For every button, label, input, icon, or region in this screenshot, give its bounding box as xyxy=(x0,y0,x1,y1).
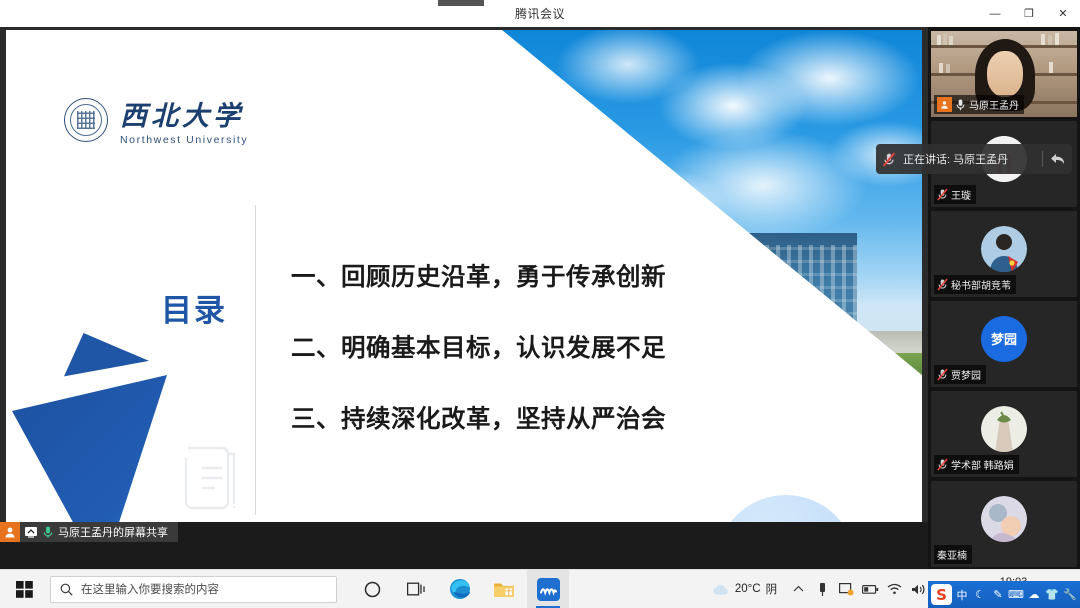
speaking-toast-text: 正在讲话: 马原王孟丹 xyxy=(903,151,1035,167)
window-titlebar: 腾讯会议 — ❐ ✕ xyxy=(0,0,1080,27)
taskbar-tencent-meeting-button[interactable] xyxy=(527,570,569,608)
weather-widget[interactable]: 20°C 阴 xyxy=(703,581,785,597)
tencent-meeting-icon xyxy=(537,578,560,601)
vertical-divider xyxy=(255,205,256,515)
sogou-logo-icon[interactable]: S xyxy=(931,584,952,605)
ime-tools-icon[interactable]: 🔧 xyxy=(1062,585,1078,605)
ime-keyboard-icon[interactable]: ⌨ xyxy=(1008,585,1024,605)
ime-cloud-icon[interactable]: ☁ xyxy=(1026,585,1042,605)
toc-item: 一、回顾历史沿革，勇于传承创新 xyxy=(291,258,666,293)
minimize-icon[interactable]: — xyxy=(978,0,1012,27)
mic-muted-icon xyxy=(882,152,896,167)
mic-off-icon xyxy=(937,368,948,381)
speaking-toast: 正在讲话: 马原王孟丹 xyxy=(876,144,1072,174)
task-view-icon xyxy=(407,581,426,597)
mic-off-icon xyxy=(937,278,948,291)
participant-name-chip: 学术部 韩路娟 xyxy=(934,455,1019,474)
cloud-icon xyxy=(711,582,730,597)
shared-screen-region[interactable]: 西北大学 Northwest University 目录 一、回顾历史沿革，勇于… xyxy=(0,27,928,542)
weather-condition: 阴 xyxy=(766,581,778,597)
ime-skin-icon[interactable]: 👕 xyxy=(1044,585,1060,605)
toast-separator xyxy=(1042,151,1043,167)
university-logo: 西北大学 Northwest University xyxy=(64,94,248,146)
participant-name-chip: 秦亚楠 xyxy=(934,545,972,564)
avatar xyxy=(981,226,1027,272)
tray-screenshot-icon[interactable] xyxy=(835,570,857,608)
mic-on-icon xyxy=(955,98,966,111)
university-seal-icon xyxy=(64,98,108,142)
ime-moon-icon[interactable]: ☾ xyxy=(972,585,988,605)
ime-language-icon[interactable]: 中 xyxy=(954,585,970,605)
decorative-triangle-large xyxy=(12,375,167,539)
document-watermark-icon xyxy=(180,438,242,510)
ime-toolbar[interactable]: S 中 ☾ ✎ ⌨ ☁ 👕 🔧 xyxy=(928,581,1080,608)
university-name: 西北大学 Northwest University xyxy=(120,94,248,146)
avatar xyxy=(981,406,1027,452)
participant-name: 秘书部胡竞苇 xyxy=(951,277,1011,292)
presentation-slide: 西北大学 Northwest University 目录 一、回顾历史沿革，勇于… xyxy=(6,30,922,539)
search-icon xyxy=(60,583,73,596)
start-button[interactable] xyxy=(0,570,48,608)
avatar xyxy=(981,496,1027,542)
mic-icon xyxy=(42,525,54,539)
toc-list: 一、回顾历史沿革，勇于传承创新 二、明确基本目标，认识发展不足 三、持续深化改革… xyxy=(291,258,666,435)
toc-item: 二、明确基本目标，认识发展不足 xyxy=(291,329,666,364)
participant-tile[interactable]: 学术部 韩路娟 xyxy=(931,391,1077,477)
window-title: 腾讯会议 xyxy=(515,5,565,22)
participant-name: 贾梦园 xyxy=(951,367,981,382)
avatar: 梦园 xyxy=(981,316,1027,362)
participant-rail[interactable]: 马原王孟丹 王璇 xyxy=(928,27,1080,569)
tray-battery-icon[interactable] xyxy=(859,570,881,608)
search-placeholder: 在这里输入你要搜索的内容 xyxy=(81,581,219,597)
participant-name: 马原王孟丹 xyxy=(969,97,1019,112)
reply-icon[interactable] xyxy=(1050,152,1066,166)
windows-logo-icon xyxy=(16,581,33,598)
tray-wifi-icon[interactable] xyxy=(883,570,905,608)
meeting-area: 西北大学 Northwest University 目录 一、回顾历史沿革，勇于… xyxy=(0,27,1080,569)
window-controls: — ❐ ✕ xyxy=(978,0,1080,27)
participant-name: 王璇 xyxy=(951,187,971,202)
participant-name: 学术部 韩路娟 xyxy=(951,457,1014,472)
window-tab-stub xyxy=(438,0,484,6)
toc-item: 三、持续深化改革，坚持从严治会 xyxy=(291,400,666,435)
avatar-initials: 梦园 xyxy=(991,329,1017,348)
participant-tile[interactable]: 秦亚楠 xyxy=(931,481,1077,567)
mic-off-icon xyxy=(937,188,948,201)
participant-tile[interactable]: 梦园 贾梦园 xyxy=(931,301,1077,387)
edge-icon xyxy=(449,578,471,600)
participant-name-chip: 马原王孟丹 xyxy=(934,95,1024,114)
tray-volume-icon[interactable] xyxy=(907,570,929,608)
screen-share-status-bar: 马原王孟丹的屏幕共享 xyxy=(0,522,928,542)
taskbar-task-view-button[interactable] xyxy=(395,570,437,608)
maximize-icon[interactable]: ❐ xyxy=(1012,0,1046,27)
university-name-cn: 西北大学 xyxy=(120,94,248,133)
sharer-avatar xyxy=(0,522,20,542)
participant-face xyxy=(987,51,1023,97)
folder-icon xyxy=(493,580,515,599)
tray-usb-icon[interactable] xyxy=(811,570,833,608)
participant-tile[interactable]: 秘书部胡竞苇 xyxy=(931,211,1077,297)
university-name-en: Northwest University xyxy=(120,134,248,146)
participant-tile[interactable]: 马原王孟丹 xyxy=(931,31,1077,117)
participant-name: 秦亚楠 xyxy=(937,547,967,562)
slide-heading: 目录 xyxy=(161,285,227,330)
search-input[interactable]: 在这里输入你要搜索的内容 xyxy=(50,576,337,603)
screen-share-indicator: 马原王孟丹的屏幕共享 xyxy=(0,522,178,542)
taskbar-file-explorer-button[interactable] xyxy=(483,570,525,608)
screen-icon xyxy=(24,526,38,538)
cortana-icon xyxy=(364,581,381,598)
campus-building-main xyxy=(677,233,857,341)
weather-temperature: 20°C xyxy=(735,583,761,595)
taskbar-cortana-button[interactable] xyxy=(351,570,393,608)
share-bar-label: 马原王孟丹的屏幕共享 xyxy=(58,524,168,540)
taskbar-apps xyxy=(351,570,569,608)
close-icon[interactable]: ✕ xyxy=(1046,0,1080,27)
participant-name-chip: 秘书部胡竞苇 xyxy=(934,275,1016,294)
taskbar-edge-button[interactable] xyxy=(439,570,481,608)
windows-taskbar: 在这里输入你要搜索的内容 xyxy=(0,569,1080,608)
ime-pen-icon[interactable]: ✎ xyxy=(990,585,1006,605)
mic-off-icon xyxy=(937,458,948,471)
participant-name-chip: 王璇 xyxy=(934,185,976,204)
tray-overflow-chevron-icon[interactable] xyxy=(787,570,809,608)
screen: 腾讯会议 — ❐ ✕ xyxy=(0,0,1080,608)
participant-name-chip: 贾梦园 xyxy=(934,365,986,384)
host-badge-icon xyxy=(937,97,952,112)
